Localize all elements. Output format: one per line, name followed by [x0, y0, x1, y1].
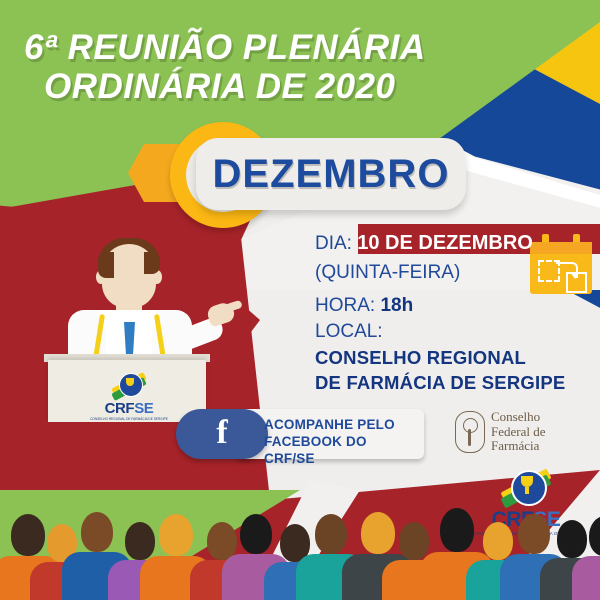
facebook-cta-line-2: FACEBOOK DO CRF/SE — [264, 434, 419, 468]
podium-logo-subtitle: CONSELHO REGIONAL DE FARMÁCIA DE SERGIPE — [86, 417, 172, 421]
calendar-header-bar — [530, 242, 592, 254]
audience-crowd — [0, 498, 600, 600]
speaker-illustration: CRFSE CONSELHO REGIONAL DE FARMÁCIA DE S… — [40, 222, 230, 412]
event-place-line-2: DE FARMÁCIA DE SERGIPE — [315, 371, 590, 394]
event-place-label: LOCAL: — [315, 320, 590, 344]
speaker-hair-side-right — [144, 252, 160, 274]
calendar-solid-square — [566, 272, 587, 293]
month-label: DEZEMBRO — [213, 152, 450, 197]
cff-line-2: Federal de — [491, 425, 546, 440]
headline-line-2: ORDINÁRIA DE 2020 — [24, 67, 464, 106]
cff-mortar-pestle-icon — [455, 411, 485, 453]
event-details: DIA: 10 DE DEZEMBRO (QUINTA-FEIRA) HORA:… — [315, 228, 590, 394]
event-poster: 6ª REUNIÃO PLENÁRIA ORDINÁRIA DE 2020 DE… — [0, 0, 600, 600]
hygieia-cup-shape — [126, 378, 134, 386]
facebook-f-icon[interactable]: f — [176, 409, 268, 459]
event-time-row: HORA: 18h — [315, 292, 590, 320]
facebook-cta-text: ACOMPANHE PELO FACEBOOK DO CRF/SE — [264, 417, 419, 468]
page-title: 6ª REUNIÃO PLENÁRIA ORDINÁRIA DE 2020 — [24, 28, 464, 106]
podium-logo-wordmark: CRFSE — [86, 401, 172, 416]
audience-body — [572, 556, 600, 600]
speaker-hair-side-left — [98, 252, 114, 278]
podium-crfse-logo: CRFSE CONSELHO REGIONAL DE FARMÁCIA DE S… — [86, 372, 172, 416]
audience-person — [572, 516, 600, 600]
badge-pill: DEZEMBRO — [196, 138, 466, 210]
headline-line-1: 6ª REUNIÃO PLENÁRIA — [24, 28, 426, 67]
cff-line-3: Farmácia — [491, 439, 546, 454]
audience-head — [159, 514, 193, 556]
podium-logo-se: SE — [134, 400, 153, 417]
podium-logo-crf: CRF — [105, 400, 135, 417]
calendar-reschedule-icon — [530, 232, 592, 294]
audience-head — [589, 516, 600, 556]
facebook-cta[interactable]: f ACOMPANHE PELO FACEBOOK DO CRF/SE — [176, 409, 424, 459]
facebook-f-glyph: f — [216, 416, 227, 450]
cff-logo: Conselho Federal de Farmácia — [455, 408, 575, 456]
event-place-line-1: CONSELHO REGIONAL — [315, 346, 590, 369]
date-value: 10 DE DEZEMBRO — [357, 232, 533, 254]
time-label: HORA: — [315, 295, 375, 316]
crfse-globe-cup-icon — [114, 372, 144, 400]
facebook-cta-line-1: ACOMPANHE PELO — [264, 417, 419, 434]
time-value: 18h — [380, 295, 413, 316]
cff-line-1: Conselho — [491, 410, 546, 425]
date-label: DIA: — [315, 233, 352, 254]
cff-logo-text: Conselho Federal de Farmácia — [491, 410, 546, 454]
month-badge: DEZEMBRO — [128, 130, 468, 216]
